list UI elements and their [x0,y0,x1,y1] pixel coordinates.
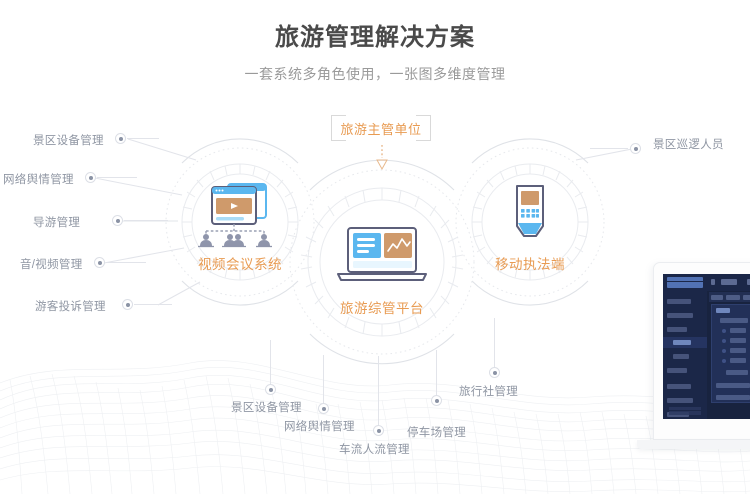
device-tree-row-2 [730,338,746,343]
node-video-conference[interactable]: 视频会议系统 [180,178,300,273]
bottom-item-2-line [378,356,379,426]
badge-corner-tl [331,115,346,126]
authority-badge-label: 旅游主管单位 [340,119,421,138]
device-tree-chk-2 [722,349,726,353]
device-screen [663,274,750,419]
device-subchip-0 [711,295,723,300]
bottom-item-1-dot[interactable] [318,403,329,414]
device-subbar [709,292,750,302]
left-item-2-dot[interactable] [112,215,123,226]
badge-corner-bl [331,130,346,141]
bottom-item-3-label: 停车场管理 [407,424,466,440]
device-brand [667,277,703,288]
device-tree-row-5 [726,370,748,375]
left-item-2-line [124,220,168,221]
bottom-item-2-label: 车流人流管理 [339,441,410,457]
device-side-0 [667,299,691,304]
node-video-conference-label: 视频会议系统 [180,253,300,273]
left-item-3-dot[interactable] [94,257,105,268]
node-mobile-enforce-label: 移动执法端 [470,253,590,273]
device-tree-chk-0 [722,329,726,333]
left-item-0-dot[interactable] [115,133,126,144]
infographic-canvas: 旅游管理解决方案 一套系统多角色使用，一张图多维度管理 [0,0,750,498]
bottom-item-0-label: 景区设备管理 [231,399,302,415]
device-side-6 [667,384,691,389]
device-topbar [663,274,750,291]
left-item-3-line [106,262,146,263]
laptop-dashboard-icon [322,222,442,292]
page-title: 旅游管理解决方案 [0,22,750,54]
bottom-item-4-line [494,318,495,368]
left-item-4-label: 游客投诉管理 [35,298,106,314]
device-tree-chk-1 [722,339,726,343]
left-item-3-label: 音/视频管理 [20,256,83,272]
video-conference-icon [180,178,300,248]
left-item-4-line [134,304,172,305]
right-item-0-dot[interactable] [630,143,641,154]
bottom-item-0-dot[interactable] [265,384,276,395]
bottom-item-0-line [270,340,271,385]
bottom-item-2-dot[interactable] [373,425,384,436]
device-tree-title [716,308,730,313]
device-topnav-1 [721,279,737,285]
device-side-2 [667,327,687,332]
device-topnav-0 [711,279,715,285]
laptop-device [653,262,750,462]
node-platform[interactable]: 旅游综管平台 [322,222,442,317]
badge-corner-tr [416,115,431,126]
right-item-0-line [590,148,628,149]
bottom-item-3-line [436,350,437,396]
page-subtitle: 一套系统多角色使用，一张图多维度管理 [0,64,750,84]
badge-corner-br [416,130,431,141]
device-tree-row-3 [730,348,746,353]
left-item-0-line [127,138,159,139]
device-side-4 [673,354,689,359]
header: 旅游管理解决方案 一套系统多角色使用，一张图多维度管理 [0,22,750,84]
device-sidebar [663,291,707,419]
node-mobile-enforce[interactable]: 移动执法端 [470,178,590,273]
mobile-device-icon [470,178,590,248]
left-item-2-label: 导游管理 [33,214,80,230]
device-tree-row-4 [730,358,746,363]
device-side-1 [667,313,693,318]
device-side-7 [667,398,693,403]
bottom-item-1-line [323,355,324,404]
left-item-4-dot[interactable] [122,299,133,310]
right-item-0-label: 景区巡逻人员 [653,136,724,152]
bottom-item-4-dot[interactable] [489,367,500,378]
authority-badge[interactable]: 旅游主管单位 [331,115,431,141]
device-tree-row-0 [720,318,748,323]
device-side-5 [667,368,687,373]
device-tree-row-1 [730,328,746,333]
device-tree-row-7 [716,395,750,400]
bottom-item-4-label: 旅行社管理 [459,383,518,399]
left-item-1-label: 网络舆情管理 [3,171,74,187]
device-sidebar-footer [669,407,701,415]
bottom-item-1-label: 网络舆情管理 [284,418,355,434]
device-base [637,440,750,449]
device-tree-chk-3 [722,359,726,363]
device-subchip-2 [743,295,750,300]
device-subchip-1 [726,295,740,300]
node-platform-label: 旅游综管平台 [322,297,442,317]
device-tree-row-6 [716,383,750,388]
left-item-1-line [97,177,137,178]
bottom-item-3-dot[interactable] [431,395,442,406]
device-side-3 [673,340,691,345]
left-item-1-dot[interactable] [85,172,96,183]
device-bezel [653,262,750,440]
left-item-0-label: 景区设备管理 [33,132,104,148]
device-tree-panel [711,304,750,403]
